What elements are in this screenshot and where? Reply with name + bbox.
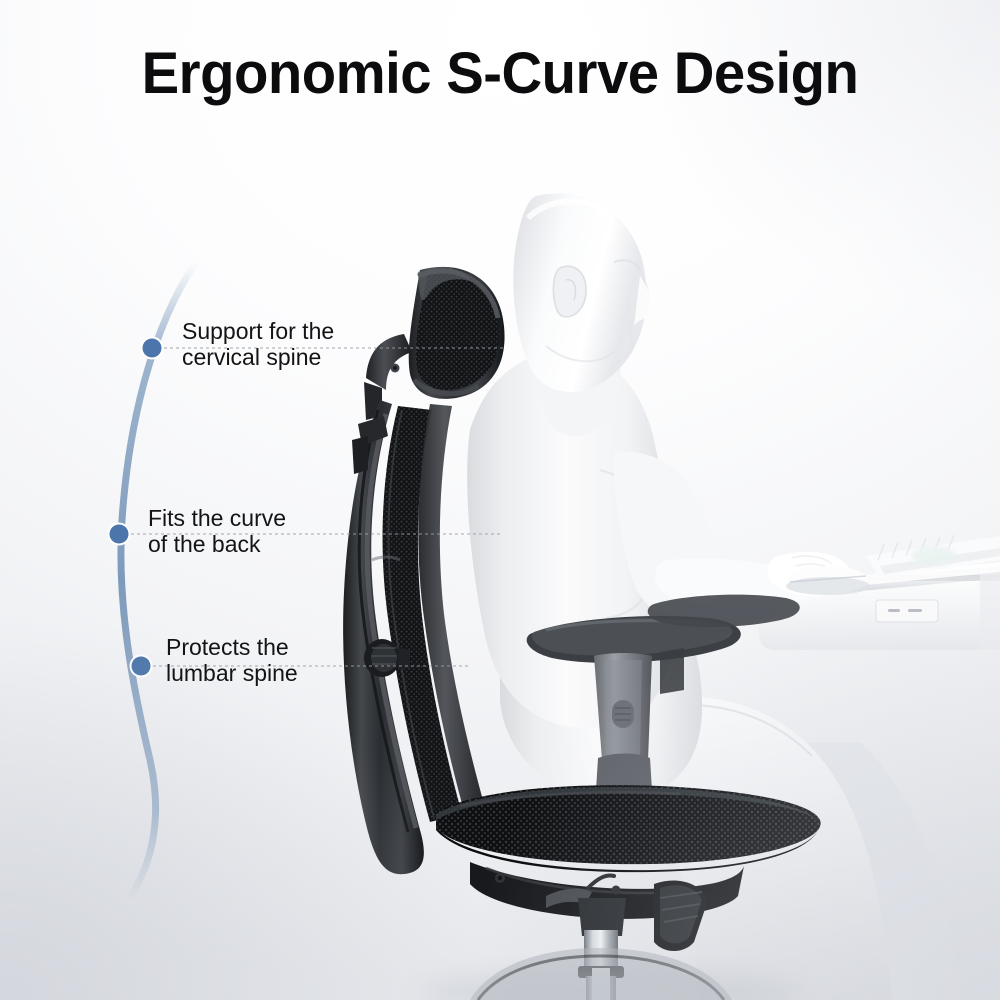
seat [436,785,821,872]
product-scene-illustration [0,0,1000,1000]
callout-line-2: of the back [148,531,286,557]
callout-label-cervical: Support for the cervical spine [182,318,334,370]
headrest [364,267,505,420]
callout-line-2: lumbar spine [166,660,298,686]
callout-label-back: Fits the curve of the back [148,505,286,557]
callout-line-1: Fits the curve [148,505,286,531]
infographic-canvas: Ergonomic S-Curve Design Support for the… [0,0,1000,1000]
callout-line-1: Support for the [182,318,334,344]
callout-line-2: cervical spine [182,344,334,370]
callout-label-lumbar: Protects the lumbar spine [166,634,298,686]
callout-line-1: Protects the [166,634,289,660]
page-title: Ergonomic S-Curve Design [15,40,985,107]
